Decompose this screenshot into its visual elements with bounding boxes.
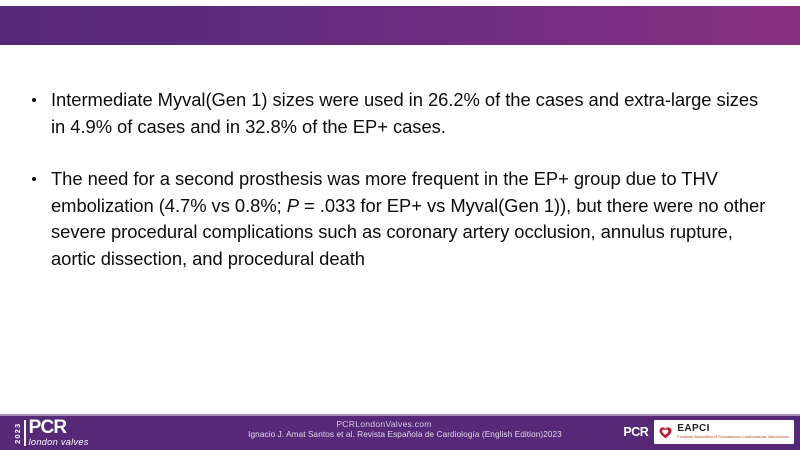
slide-footer: 2023 PCR london valves PCRLondonValves.c… <box>0 414 800 450</box>
eapci-text-block: EAPCI European Association of Percutaneo… <box>677 424 789 439</box>
bullet-2-pvalue-symbol: P <box>287 195 299 216</box>
heart-icon <box>658 425 673 440</box>
bullet-list: Intermediate Myval(Gen 1) sizes were use… <box>30 87 772 272</box>
bullet-1-text: Intermediate Myval(Gen 1) sizes were use… <box>51 89 758 137</box>
bullet-item-1: Intermediate Myval(Gen 1) sizes were use… <box>30 87 772 140</box>
bullet-dot-icon <box>32 98 36 102</box>
logo-subtitle-text: london valves <box>29 438 89 447</box>
bullet-dot-icon <box>32 177 36 181</box>
top-band-hairline <box>0 3 800 6</box>
slide-content-area: Intermediate Myval(Gen 1) sizes were use… <box>0 45 800 414</box>
bullet-item-2: The need for a second prosthesis was mor… <box>30 166 772 272</box>
pcr-mark-logo: PCR <box>623 426 648 439</box>
eapci-name-text: EAPCI <box>677 424 789 434</box>
eapci-logo-badge: EAPCI European Association of Percutaneo… <box>654 420 794 444</box>
footer-logos-group: PCR EAPCI European Association of Percut… <box>623 418 794 446</box>
top-accent-band <box>0 3 800 45</box>
eapci-tagline-text: European Association of Percutaneous Car… <box>677 436 789 440</box>
